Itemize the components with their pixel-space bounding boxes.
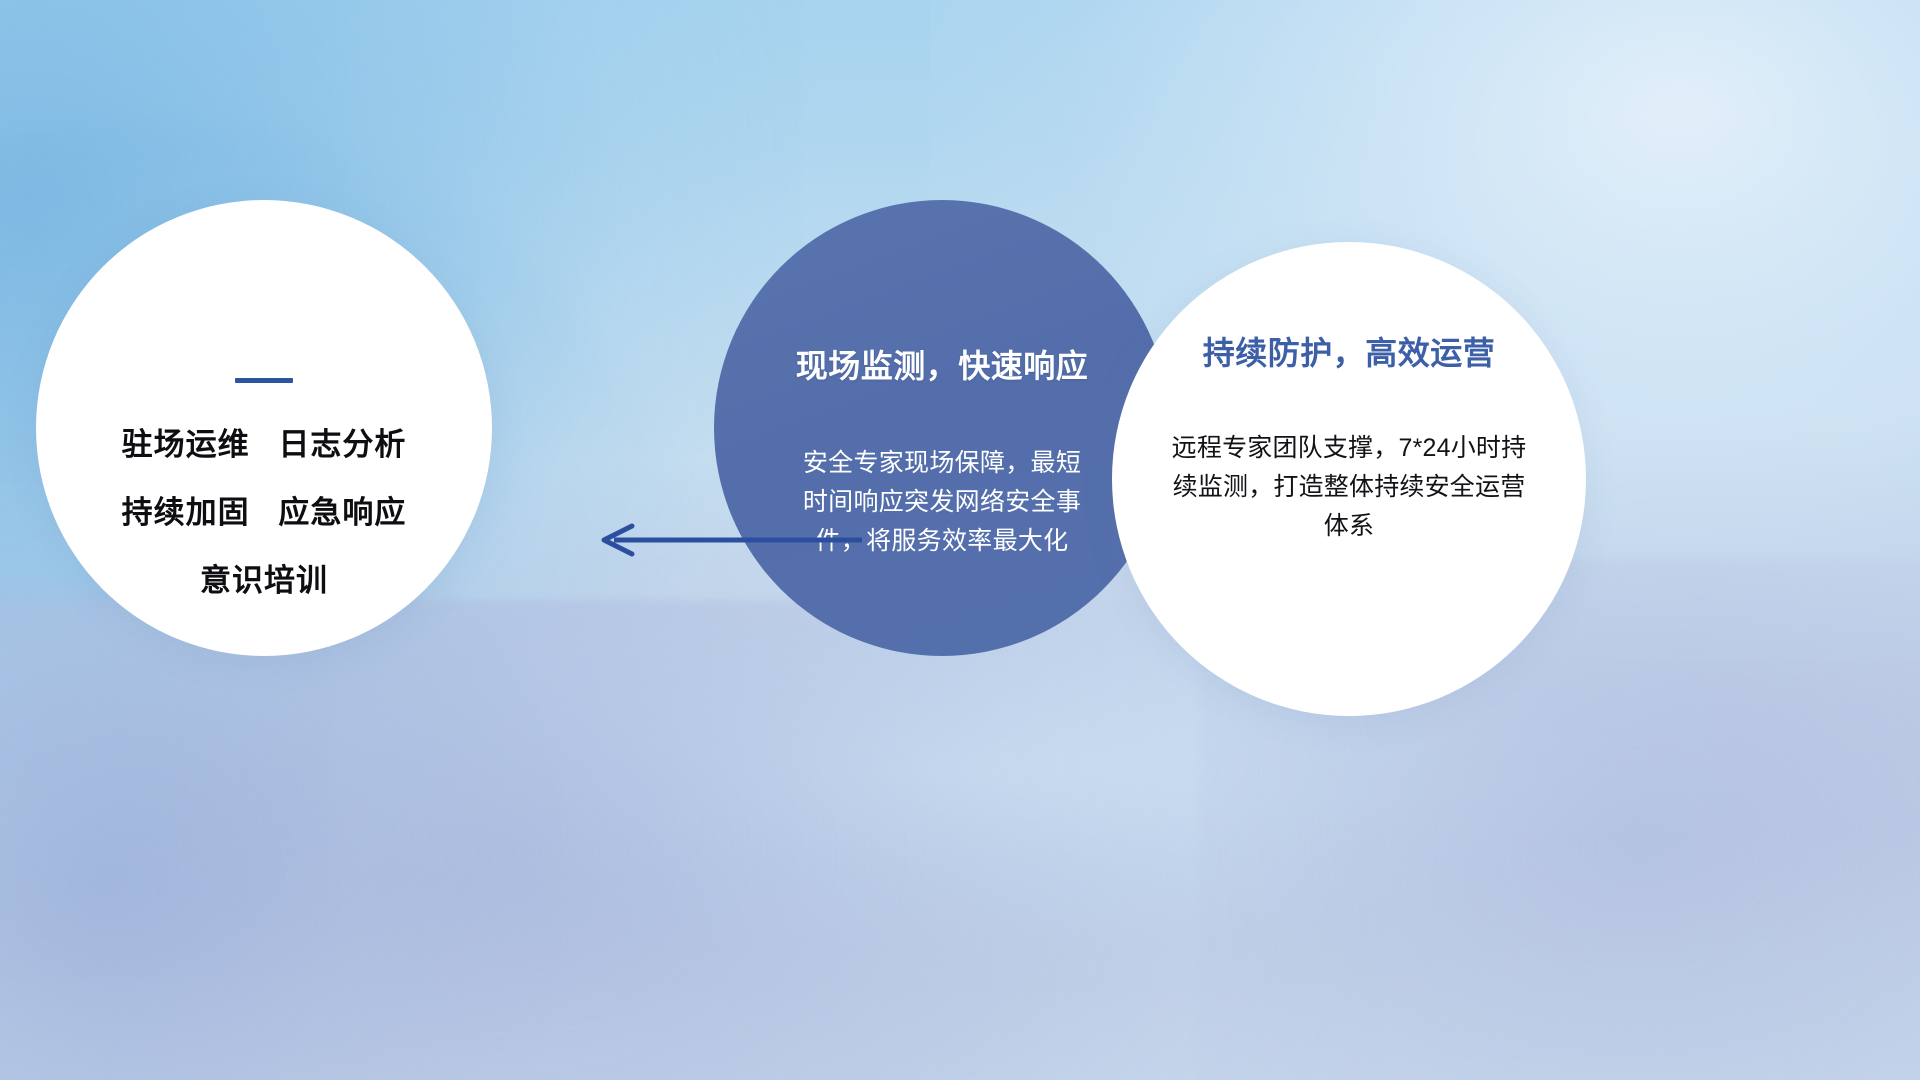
capability-circle-middle bbox=[714, 200, 1170, 656]
slide-canvas: 驻场运维 日志分析 持续加固 应急响应 意识培训 现场监测，快速响应 安全专家现… bbox=[0, 0, 1920, 1080]
right-circle-title: 持续防护，高效运营 bbox=[1203, 337, 1496, 369]
capability-line-3: 意识培训 bbox=[200, 565, 328, 596]
capability-line-2: 持续加固 应急响应 bbox=[122, 497, 407, 528]
horizontal-dash-icon bbox=[235, 378, 293, 383]
capability-line-1: 驻场运维 日志分析 bbox=[122, 429, 407, 460]
right-circle-content: 持续防护，高效运营 远程专家团队支撑，7*24小时持续监测，打造整体持续安全运营… bbox=[1112, 242, 1586, 716]
capability-list-left: 驻场运维 日志分析 持续加固 应急响应 意识培训 bbox=[36, 200, 492, 656]
right-circle-body: 远程专家团队支撑，7*24小时持续监测，打造整体持续安全运营体系 bbox=[1163, 429, 1535, 546]
